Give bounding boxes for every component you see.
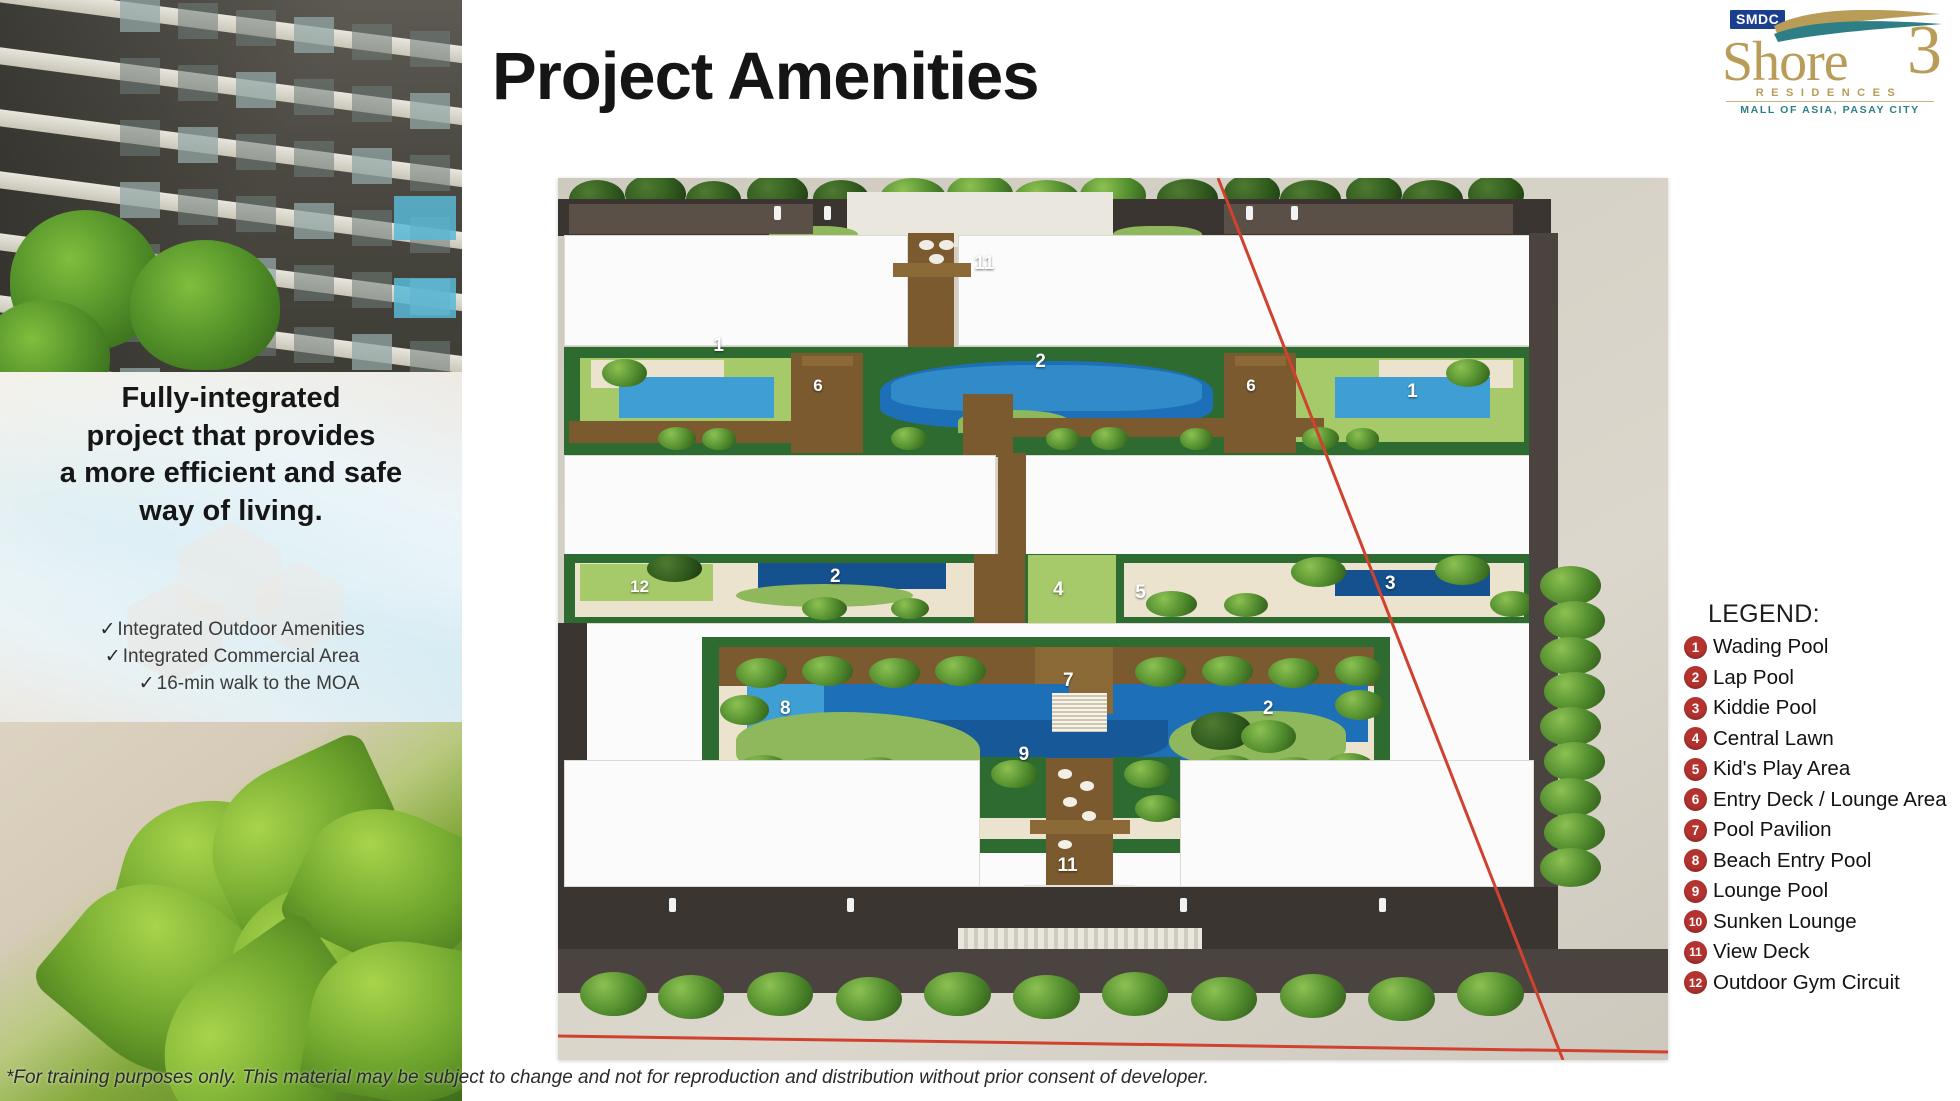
window-pane [236, 134, 276, 170]
headline-line-3: a more efficient and safe [26, 455, 436, 493]
legend-panel: LEGEND: 1 Wading Pool 2 Lap Pool 3 Kiddi… [1684, 600, 1906, 998]
legend-badge-7: 7 [1684, 819, 1707, 842]
list-item: ✓Integrated Outdoor Amenities [26, 617, 436, 644]
logo-wordmark: Shore [1722, 30, 1848, 94]
plan-marker: 8 [780, 698, 791, 720]
main-content: Project Amenities SMDC Shore 3 RESIDENCE… [462, 0, 1960, 1101]
window-pane [120, 58, 160, 94]
legend-item-pool-pavilion[interactable]: 7 Pool Pavilion [1684, 815, 1906, 846]
legend-label: Lap Pool [1713, 666, 1794, 690]
plan-marker: 11 [974, 253, 994, 275]
legend-title: LEGEND: [1684, 600, 1906, 629]
palm-tree [130, 240, 280, 370]
headline-line-1: Fully-integrated [26, 380, 436, 418]
plan-marker: 9 [1019, 744, 1030, 766]
legend-item-kiddie-pool[interactable]: 3 Kiddie Pool [1684, 693, 1906, 724]
headline-line-2: project that provides [26, 418, 436, 456]
legend-badge-9: 9 [1684, 880, 1707, 903]
window-pane [410, 341, 450, 372]
window-pane [352, 334, 392, 370]
legend-label: Sunken Lounge [1713, 910, 1857, 934]
legend-badge-2: 2 [1684, 666, 1707, 689]
list-item: ✓Integrated Commercial Area [26, 644, 436, 671]
plan-marker: 1 [1407, 381, 1418, 403]
window-pane [120, 0, 160, 32]
legend-item-beach-entry-pool[interactable]: 8 Beach Entry Pool [1684, 846, 1906, 877]
legend-badge-3: 3 [1684, 697, 1707, 720]
plan-marker: 6 [1246, 376, 1255, 396]
window-pane [236, 196, 276, 232]
window-pane [294, 203, 334, 239]
window-pane [294, 17, 334, 53]
window-pane [178, 3, 218, 39]
window-pane [236, 10, 276, 46]
bullet-label: Integrated Outdoor Amenities [117, 619, 364, 640]
footer-disclaimer: *For training purposes only. This materi… [0, 1067, 1960, 1089]
plan-marker: 12 [630, 577, 649, 597]
page-title: Project Amenities [492, 38, 1038, 115]
window-pane [120, 182, 160, 218]
legend-item-lap-pool[interactable]: 2 Lap Pool [1684, 663, 1906, 694]
pool-sliver [394, 278, 456, 318]
palm-trees-photo [0, 722, 462, 1101]
legend-label: Lounge Pool [1713, 879, 1828, 903]
bullet-label: 16-min walk to the MOA [157, 673, 360, 694]
legend-label: Wading Pool [1713, 635, 1828, 659]
plan-marker: 2 [1035, 351, 1046, 373]
plan-marker: 2 [1263, 698, 1274, 720]
legend-item-kids-play-area[interactable]: 5 Kid's Play Area [1684, 754, 1906, 785]
plan-marker: 11 [1058, 855, 1078, 877]
legend-item-sunken-lounge[interactable]: 10 Sunken Lounge [1684, 907, 1906, 938]
window-pane [236, 72, 276, 108]
logo-location: MALL OF ASIA, PASAY CITY [1722, 104, 1938, 116]
window-pane [294, 327, 334, 363]
legend-label: Pool Pavilion [1713, 818, 1832, 842]
window-pane [120, 120, 160, 156]
legend-badge-8: 8 [1684, 849, 1707, 872]
legend-label: Kiddie Pool [1713, 696, 1817, 720]
window-pane [178, 127, 218, 163]
legend-badge-12: 12 [1684, 971, 1707, 994]
legend-badge-11: 11 [1684, 941, 1707, 964]
headline-line-4: way of living. [26, 493, 436, 531]
window-pane [178, 189, 218, 225]
legend-item-central-lawn[interactable]: 4 Central Lawn [1684, 724, 1906, 755]
plan-marker: 7 [1063, 670, 1074, 692]
plan-marker: 4 [1053, 579, 1064, 601]
window-pane [352, 24, 392, 60]
window-pane [294, 265, 334, 301]
legend-badge-4: 4 [1684, 727, 1707, 750]
bullet-label: Integrated Commercial Area [123, 646, 360, 667]
legend-label: View Deck [1713, 940, 1809, 964]
logo-divider [1726, 101, 1934, 102]
window-pane [294, 141, 334, 177]
legend-label: Outdoor Gym Circuit [1713, 971, 1900, 995]
plan-marker: 1 [713, 335, 724, 357]
legend-item-outdoor-gym-circuit[interactable]: 12 Outdoor Gym Circuit [1684, 968, 1906, 999]
legend-label: Kid's Play Area [1713, 757, 1850, 781]
window-pane [294, 79, 334, 115]
legend-label: Central Lawn [1713, 727, 1834, 751]
legend-label: Entry Deck / Lounge Area [1713, 788, 1947, 812]
left-text-overlay: Fully-integrated project that provides a… [0, 380, 462, 698]
left-photo-column: Fully-integrated project that provides a… [0, 0, 462, 1101]
list-item: ✓16-min walk to the MOA [26, 671, 436, 698]
logo-subtitle: RESIDENCES [1726, 87, 1932, 99]
window-pane [178, 65, 218, 101]
legend-badge-6: 6 [1684, 788, 1707, 811]
legend-item-wading-pool[interactable]: 1 Wading Pool [1684, 632, 1906, 663]
site-plan-image: 11 1 6 2 6 1 12 2 4 5 3 7 8 2 9 11 [558, 178, 1668, 1060]
building-facade-photo [0, 0, 462, 372]
plan-marker: 5 [1135, 582, 1146, 604]
plan-marker: 3 [1385, 573, 1396, 595]
check-icon: ✓ [137, 671, 157, 698]
legend-item-lounge-pool[interactable]: 9 Lounge Pool [1684, 876, 1906, 907]
legend-label: Beach Entry Pool [1713, 849, 1871, 873]
plan-marker: 2 [830, 566, 841, 588]
window-pane [410, 31, 450, 67]
window-pane [410, 155, 450, 191]
feature-bullet-list: ✓Integrated Outdoor Amenities ✓Integrate… [26, 617, 436, 698]
window-pane [352, 148, 392, 184]
window-pane [352, 210, 392, 246]
window-pane [410, 93, 450, 129]
legend-badge-5: 5 [1684, 758, 1707, 781]
check-icon: ✓ [97, 617, 117, 644]
window-pane [352, 86, 392, 122]
legend-item-entry-deck-lounge-area[interactable]: 6 Entry Deck / Lounge Area [1684, 785, 1906, 816]
left-headline: Fully-integrated project that provides a… [26, 380, 436, 531]
smdc-shore3-logo: SMDC Shore 3 RESIDENCES MALL OF ASIA, PA… [1708, 4, 1948, 122]
window-pane [352, 272, 392, 308]
logo-number: 3 [1907, 16, 1942, 86]
pool-sliver [394, 196, 456, 240]
slide-root: Fully-integrated project that provides a… [0, 0, 1960, 1101]
check-icon: ✓ [103, 644, 123, 671]
legend-item-view-deck[interactable]: 11 View Deck [1684, 937, 1906, 968]
legend-badge-10: 10 [1684, 910, 1707, 933]
plan-marker: 6 [813, 376, 822, 396]
legend-badge-1: 1 [1684, 636, 1707, 659]
